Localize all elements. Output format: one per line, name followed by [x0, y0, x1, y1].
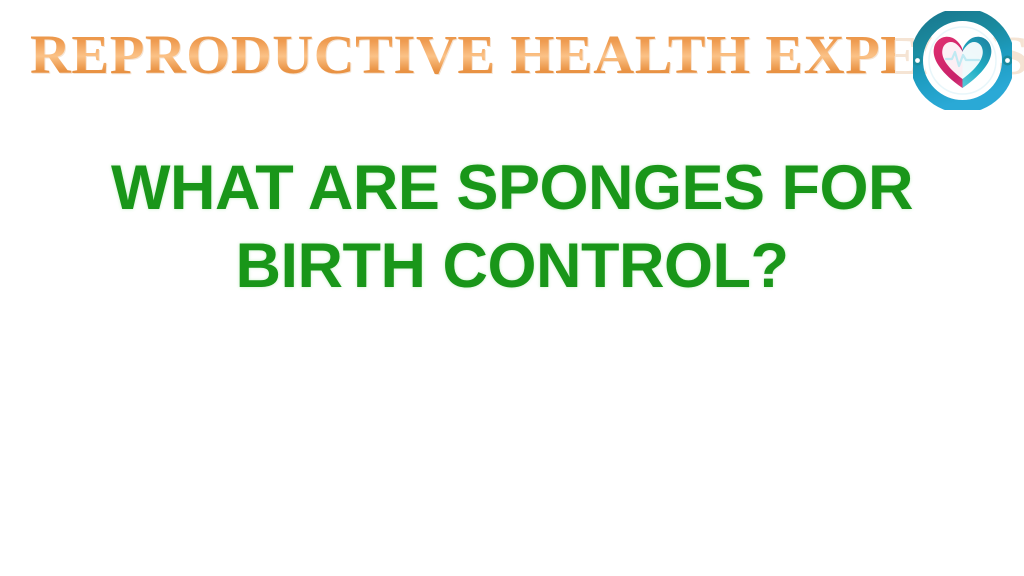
- page-title: WHAT ARE SPONGES FOR BIRTH CONTROL?: [0, 148, 1024, 306]
- brand-title: REPRODUCTIVE HEALTH EXPERTS: [30, 24, 895, 86]
- logo-marker-left-dot: [915, 58, 920, 63]
- content-area-empty: [0, 320, 1024, 576]
- logo-marker-right-dot: [1005, 58, 1010, 63]
- brand-logo[interactable]: [913, 11, 1012, 110]
- slide-canvas: REPRODUCTIVE HEALTH EXPERTS REPRODUCTIVE…: [0, 0, 1024, 576]
- header-bar: REPRODUCTIVE HEALTH EXPERTS REPRODUCTIVE…: [0, 0, 1024, 122]
- page-title-line-1: WHAT ARE SPONGES FOR: [0, 148, 1024, 228]
- page-title-line-2: BIRTH CONTROL?: [0, 226, 1024, 306]
